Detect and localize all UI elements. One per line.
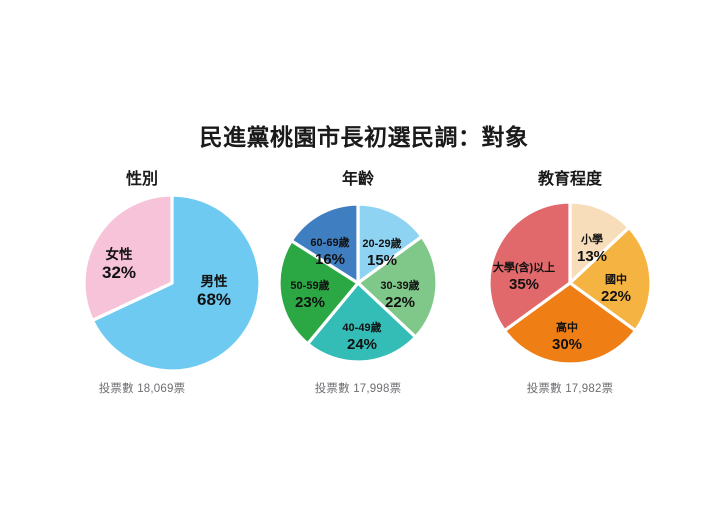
pie-label-education-1: 國中22%: [601, 272, 631, 305]
pie-label-name: 女性: [106, 246, 133, 262]
pie-svg-age: 20-29歲15%30-39歲22%40-49歲24%50-59歲23%60-6…: [278, 193, 438, 387]
pie-label-education-0: 小學13%: [577, 232, 607, 265]
chart-panel-education: 教育程度 小學13%國中22%高中30%大學(含)以上35% 投票數 17,98…: [490, 165, 650, 405]
chart-title-education: 教育程度: [490, 165, 650, 189]
pie-chart-age: 20-29歲15%30-39歲22%40-49歲24%50-59歲23%60-6…: [278, 193, 438, 387]
chart-title-age: 年齡: [278, 165, 438, 189]
pie-label-percent: 35%: [509, 276, 539, 293]
pie-label-name: 60-69歲: [310, 235, 349, 249]
pie-label-percent: 16%: [315, 251, 345, 268]
chart-footer-age: 投票數 17,998票: [278, 380, 438, 396]
chart-footer-education: 投票數 17,982票: [490, 380, 650, 396]
pie-label-percent: 22%: [385, 294, 415, 311]
pie-label-percent: 15%: [367, 252, 397, 269]
pie-label-gender-1: 女性32%: [102, 246, 136, 282]
pie-label-name: 高中: [556, 320, 578, 334]
pie-label-age-2: 40-49歲24%: [342, 320, 381, 353]
infographic-canvas: 民進黨桃園市長初選民調：對象 性別 男性68%女性32% 投票數 18,069票…: [0, 0, 728, 511]
pie-svg-gender: 男性68%女性32%: [30, 193, 314, 387]
pie-label-age-0: 20-29歲15%: [362, 236, 401, 269]
pie-label-name: 40-49歲: [342, 320, 381, 334]
page-title: 民進黨桃園市長初選民調：對象: [0, 118, 728, 152]
pie-label-percent: 32%: [102, 263, 136, 282]
pie-label-name: 小學: [580, 232, 603, 246]
pie-label-percent: 24%: [347, 336, 377, 353]
chart-panel-age: 年齡 20-29歲15%30-39歲22%40-49歲24%50-59歲23%6…: [278, 165, 438, 405]
pie-label-percent: 68%: [197, 290, 231, 309]
chart-footer-gender: 投票數 18,069票: [30, 380, 254, 396]
chart-title-gender: 性別: [30, 165, 254, 189]
pie-label-age-1: 30-39歲22%: [380, 278, 419, 311]
pie-label-percent: 23%: [295, 294, 325, 311]
pie-chart-gender: 男性68%女性32%: [30, 193, 254, 387]
pie-label-name: 男性: [201, 273, 228, 289]
pie-label-age-3: 50-59歲23%: [290, 278, 329, 311]
pie-label-education-2: 高中30%: [552, 320, 582, 353]
pie-label-name: 20-29歲: [362, 236, 401, 250]
chart-panel-gender: 性別 男性68%女性32% 投票數 18,069票: [30, 165, 254, 405]
pie-label-percent: 13%: [577, 248, 607, 265]
pie-svg-education: 小學13%國中22%高中30%大學(含)以上35%: [490, 193, 650, 387]
pie-label-name: 大學(含)以上: [493, 260, 555, 274]
pie-label-gender-0: 男性68%: [197, 273, 231, 309]
pie-label-name: 國中: [605, 272, 627, 286]
pie-label-name: 30-39歲: [380, 278, 419, 292]
pie-label-name: 50-59歲: [290, 278, 329, 292]
pie-chart-education: 小學13%國中22%高中30%大學(含)以上35%: [490, 193, 650, 387]
pie-label-age-4: 60-69歲16%: [310, 235, 349, 268]
pie-label-percent: 22%: [601, 288, 631, 305]
pie-label-percent: 30%: [552, 336, 582, 353]
